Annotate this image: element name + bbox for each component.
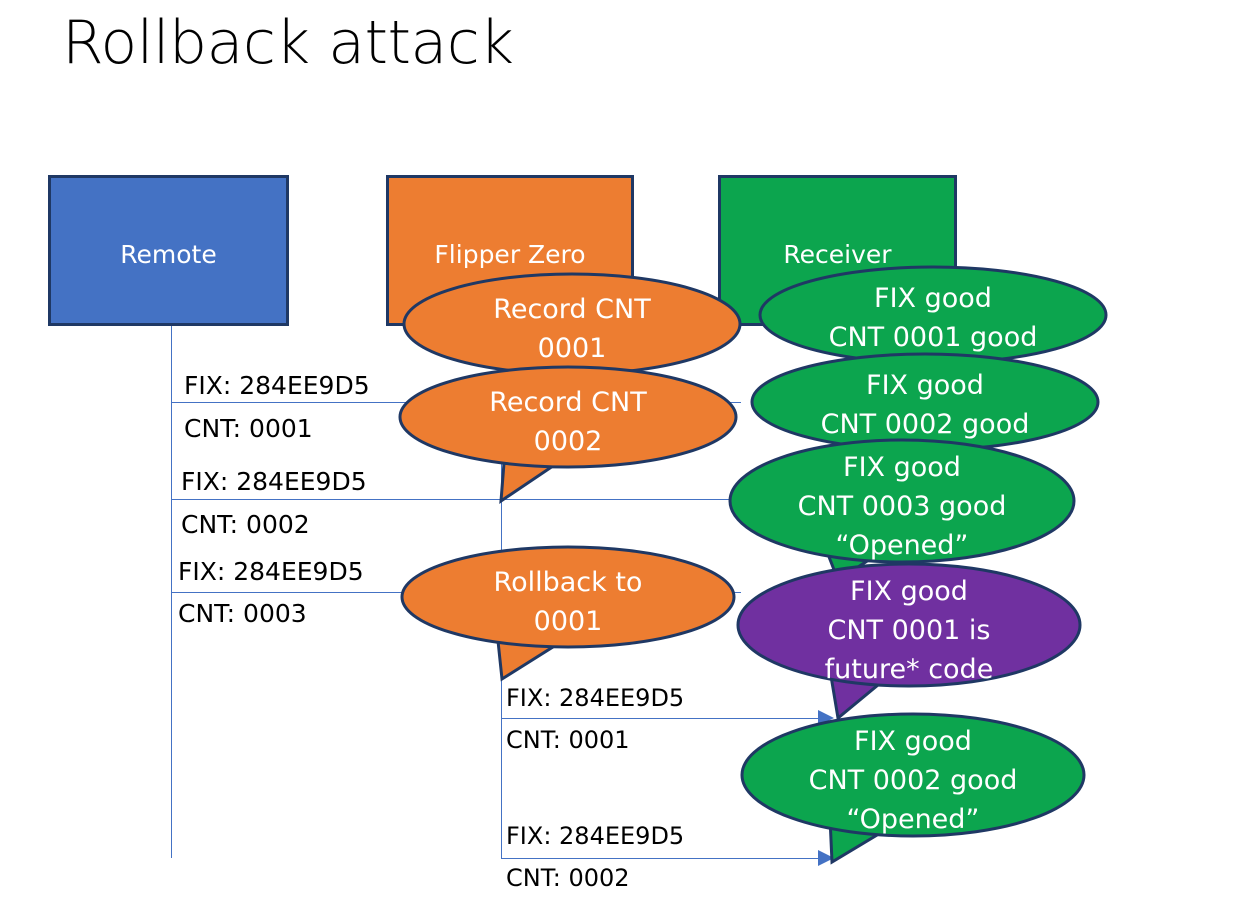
msg-label-2-cnt: CNT: 0002	[181, 512, 310, 537]
actor-box-remote[interactable]: Remote	[48, 175, 289, 326]
callout-receiver-cnt-0003-opened[interactable]: FIX good CNT 0003 good “Opened”	[728, 438, 1076, 566]
callout-receiver-cnt-0002-good[interactable]: FIX good CNT 0002 good	[750, 352, 1100, 452]
msg-label-5-cnt: CNT: 0002	[506, 866, 630, 890]
msg-label-3-fix: FIX: 284EE9D5	[178, 559, 364, 584]
callout-receiver-cnt-0002-opened[interactable]: FIX good CNT 0002 good “Opened”	[740, 712, 1086, 840]
msg-label-4-cnt: CNT: 0001	[506, 728, 630, 752]
callout-receiver-cnt-0001-future[interactable]: FIX good CNT 0001 is future* code	[736, 562, 1082, 690]
callout-shape	[750, 352, 1100, 452]
page-title: Rollback attack	[62, 8, 514, 78]
lifeline-flipper-lower	[501, 718, 502, 858]
callout-receiver-cnt-0001-good[interactable]: FIX good CNT 0001 good	[758, 265, 1108, 365]
callout-shape	[736, 562, 1082, 722]
callout-shape	[400, 545, 736, 685]
callout-flipper-record-0002[interactable]: Record CNT 0002	[398, 365, 738, 469]
msg-label-1-fix: FIX: 284EE9D5	[184, 373, 370, 398]
callout-flipper-record-0001[interactable]: Record CNT 0001	[402, 272, 742, 376]
slide-canvas: Rollback attack Remote Flipper Zero Rece…	[0, 0, 1233, 898]
msg-label-2-fix: FIX: 284EE9D5	[181, 469, 367, 494]
callout-shape	[758, 265, 1108, 365]
callout-flipper-rollback-0001[interactable]: Rollback to 0001	[400, 545, 736, 649]
callout-shape	[398, 365, 738, 505]
actor-label-flipper: Flipper Zero	[389, 241, 631, 269]
msg-label-4-fix: FIX: 284EE9D5	[506, 686, 684, 710]
callout-shape	[740, 712, 1086, 872]
msg-label-3-cnt: CNT: 0003	[178, 601, 307, 626]
msg-label-5-fix: FIX: 284EE9D5	[506, 824, 684, 848]
msg-label-1-cnt: CNT: 0001	[184, 416, 313, 441]
actor-label-remote: Remote	[51, 241, 286, 269]
